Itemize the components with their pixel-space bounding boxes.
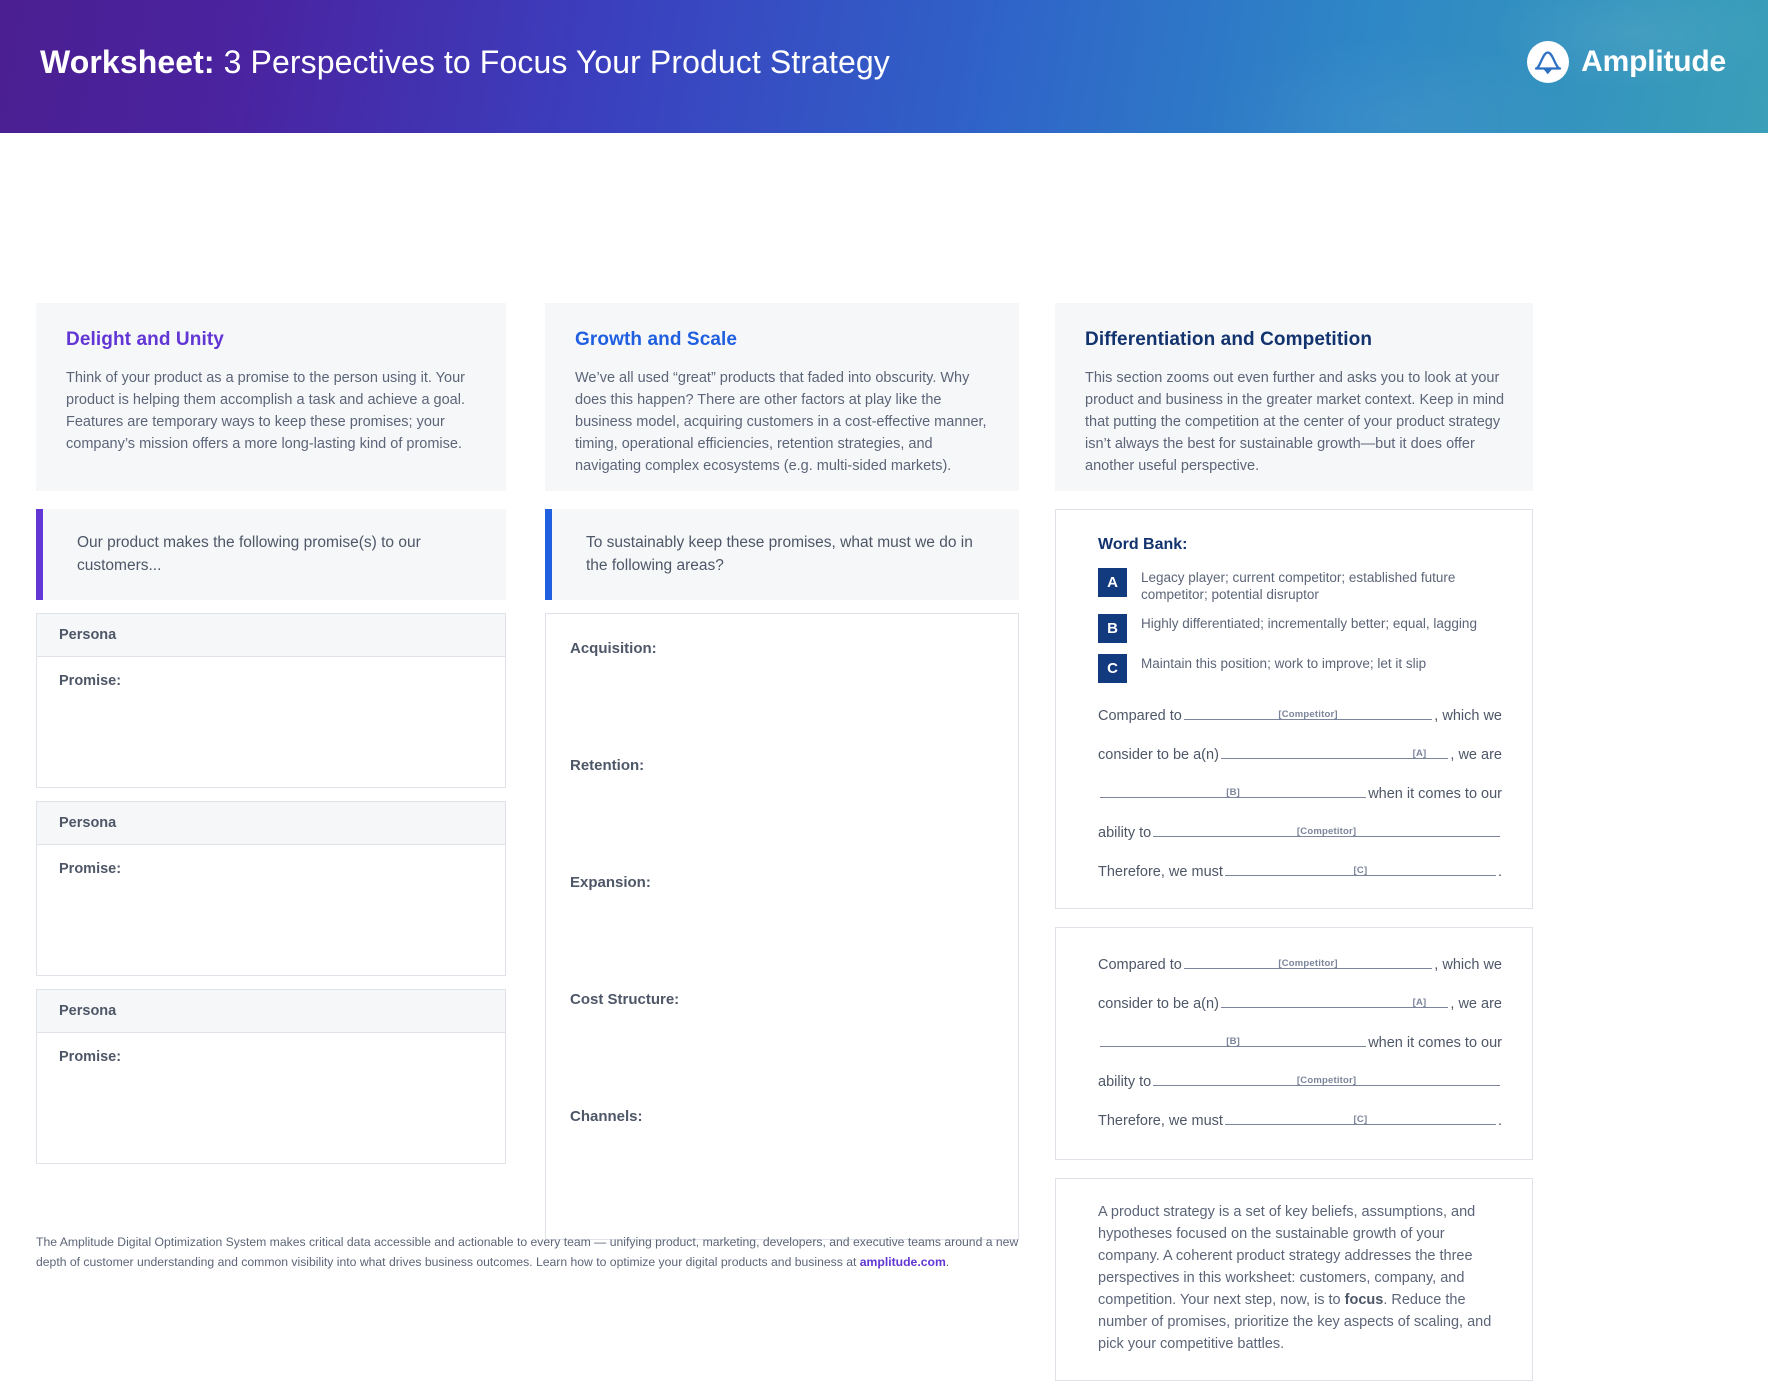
madlib-blank-c-1[interactable]: [C] [1225,861,1496,876]
persona-label: Persona [37,614,505,657]
brand-logo: Amplitude [1527,41,1726,83]
prompt-card-2: To sustainably keep these promises, what… [545,509,1019,600]
persona-card-1[interactable]: Persona Promise: [36,613,506,788]
amplitude-link[interactable]: amplitude.com [860,1255,946,1269]
persona-card-3[interactable]: Persona Promise: [36,989,506,1164]
madlib-blank-b-1[interactable]: [B] [1100,783,1366,798]
column-growth-and-scale: Growth and Scale We’ve all used “great” … [545,303,1019,1240]
section-body-2: We’ve all used “great” products that fad… [575,367,993,477]
madlib-blank-a-2[interactable]: [A] [1221,993,1449,1008]
madlib-lead-1: Compared to [1098,957,1182,973]
madlib-hint-b: [B] [1100,787,1366,798]
madlib-line-3: [B] when it comes to our [1098,783,1502,802]
madlib-hint-competitor: [Competitor] [1184,958,1432,969]
madlib-line-1: Compared to [Competitor] , which we [1098,954,1502,973]
summary-bold-word: focus [1345,1292,1384,1308]
growth-areas-box[interactable]: Acquisition: Retention: Expansion: Cost … [545,613,1019,1240]
word-bank-title: Word Bank: [1098,536,1502,554]
madlib-tail-5: . [1498,864,1502,880]
word-bank-text-b: Highly differentiated; incrementally bet… [1141,614,1477,632]
madlib-line-2: consider to be a(n) [A] , we are [1098,993,1502,1012]
madlib-lead-5: Therefore, we must [1098,864,1223,880]
madlib-line-5: Therefore, we must [C] . [1098,861,1502,880]
madlib-hint-competitor-2: [Competitor] [1153,826,1500,837]
madlib-blank-competitor-3[interactable]: [Competitor] [1184,954,1432,969]
prompt-text-2: To sustainably keep these promises, what… [586,531,993,578]
madlib-blank-a-1[interactable]: [A] [1221,744,1449,759]
intro-card-3: Differentiation and Competition This sec… [1055,303,1533,491]
growth-item-acquisition[interactable]: Acquisition: [570,640,992,757]
section-title-1: Delight and Unity [66,329,480,351]
page-title: Worksheet: 3 Perspectives to Focus Your … [40,44,890,81]
madlib-tail-2: , we are [1450,996,1502,1012]
madlib-hint-a: [A] [1221,748,1449,759]
worksheet-body: Delight and Unity Think of your product … [0,133,1768,1364]
section-title-2: Growth and Scale [575,329,993,351]
madlib-line-3: [B] when it comes to our [1098,1032,1502,1051]
prompt-text-1: Our product makes the following promise(… [77,531,480,578]
madlib-statement-1: Compared to [Competitor] , which we cons… [1098,705,1502,880]
word-bank-box: Word Bank: A Legacy player; current comp… [1055,509,1533,909]
madlib-box-2: Compared to [Competitor] , which we cons… [1055,927,1533,1160]
badge-b-icon: B [1098,614,1127,643]
madlib-tail-2: , we are [1450,747,1502,763]
footer-part-2: . [946,1255,949,1269]
persona-label: Persona [37,990,505,1033]
madlib-lead-1: Compared to [1098,708,1182,724]
madlib-line-4: ability to [Competitor] [1098,1071,1502,1090]
madlib-tail-3: when it comes to our [1368,786,1502,802]
madlib-hint-c: [C] [1225,865,1496,876]
madlib-blank-competitor-2[interactable]: [Competitor] [1153,822,1500,837]
section-body-3: This section zooms out even further and … [1085,367,1507,477]
footer-note: The Amplitude Digital Optimization Syste… [36,1233,1020,1273]
madlib-tail-3: when it comes to our [1368,1035,1502,1051]
madlib-hint-competitor: [Competitor] [1184,709,1432,720]
column-differentiation-and-competition: Differentiation and Competition This sec… [1055,303,1533,1381]
word-bank-entry-b: B Highly differentiated; incrementally b… [1098,614,1502,643]
word-bank-entry-c: C Maintain this position; work to improv… [1098,654,1502,683]
badge-c-icon: C [1098,654,1127,683]
persona-card-2[interactable]: Persona Promise: [36,801,506,976]
page-header: Worksheet: 3 Perspectives to Focus Your … [0,0,1768,133]
madlib-hint-a: [A] [1221,997,1449,1008]
madlib-blank-competitor-1[interactable]: [Competitor] [1184,705,1432,720]
madlib-tail-1: , which we [1434,708,1502,724]
growth-item-cost-structure[interactable]: Cost Structure: [570,991,992,1108]
madlib-hint-c: [C] [1225,1114,1496,1125]
madlib-blank-competitor-4[interactable]: [Competitor] [1153,1071,1500,1086]
madlib-lead-4: ability to [1098,1074,1151,1090]
summary-box: A product strategy is a set of key belie… [1055,1178,1533,1380]
growth-item-channels[interactable]: Channels: [570,1108,992,1225]
madlib-lead-2: consider to be a(n) [1098,747,1219,763]
page-title-strong: Worksheet: [40,44,215,80]
word-bank-entry-a: A Legacy player; current competitor; est… [1098,568,1502,603]
word-bank-text-c: Maintain this position; work to improve;… [1141,654,1426,672]
growth-item-expansion[interactable]: Expansion: [570,874,992,991]
madlib-blank-c-2[interactable]: [C] [1225,1110,1496,1125]
column-delight-and-unity: Delight and Unity Think of your product … [36,303,506,1164]
amplitude-logo-icon [1527,41,1569,83]
madlib-line-5: Therefore, we must [C] . [1098,1110,1502,1129]
section-title-3: Differentiation and Competition [1085,329,1507,351]
madlib-tail-5: . [1498,1113,1502,1129]
page-title-rest: 3 Perspectives to Focus Your Product Str… [215,44,890,80]
madlib-hint-b: [B] [1100,1036,1366,1047]
madlib-statement-2: Compared to [Competitor] , which we cons… [1098,954,1502,1129]
growth-item-retention[interactable]: Retention: [570,757,992,874]
madlib-hint-competitor-2: [Competitor] [1153,1075,1500,1086]
brand-name: Amplitude [1581,45,1726,79]
section-body-1: Think of your product as a promise to th… [66,367,480,455]
madlib-lead-2: consider to be a(n) [1098,996,1219,1012]
intro-card-2: Growth and Scale We’ve all used “great” … [545,303,1019,491]
promise-field-2[interactable]: Promise: [37,845,505,975]
madlib-line-4: ability to [Competitor] [1098,822,1502,841]
madlib-lead-5: Therefore, we must [1098,1113,1223,1129]
promise-field-1[interactable]: Promise: [37,657,505,787]
madlib-lead-4: ability to [1098,825,1151,841]
badge-a-icon: A [1098,568,1127,597]
prompt-card-1: Our product makes the following promise(… [36,509,506,600]
promise-field-3[interactable]: Promise: [37,1033,505,1163]
madlib-blank-b-2[interactable]: [B] [1100,1032,1366,1047]
madlib-tail-1: , which we [1434,957,1502,973]
madlib-line-1: Compared to [Competitor] , which we [1098,705,1502,724]
madlib-line-2: consider to be a(n) [A] , we are [1098,744,1502,763]
persona-label: Persona [37,802,505,845]
summary-text: A product strategy is a set of key belie… [1098,1201,1504,1355]
intro-card-1: Delight and Unity Think of your product … [36,303,506,491]
word-bank-text-a: Legacy player; current competitor; estab… [1141,568,1502,603]
